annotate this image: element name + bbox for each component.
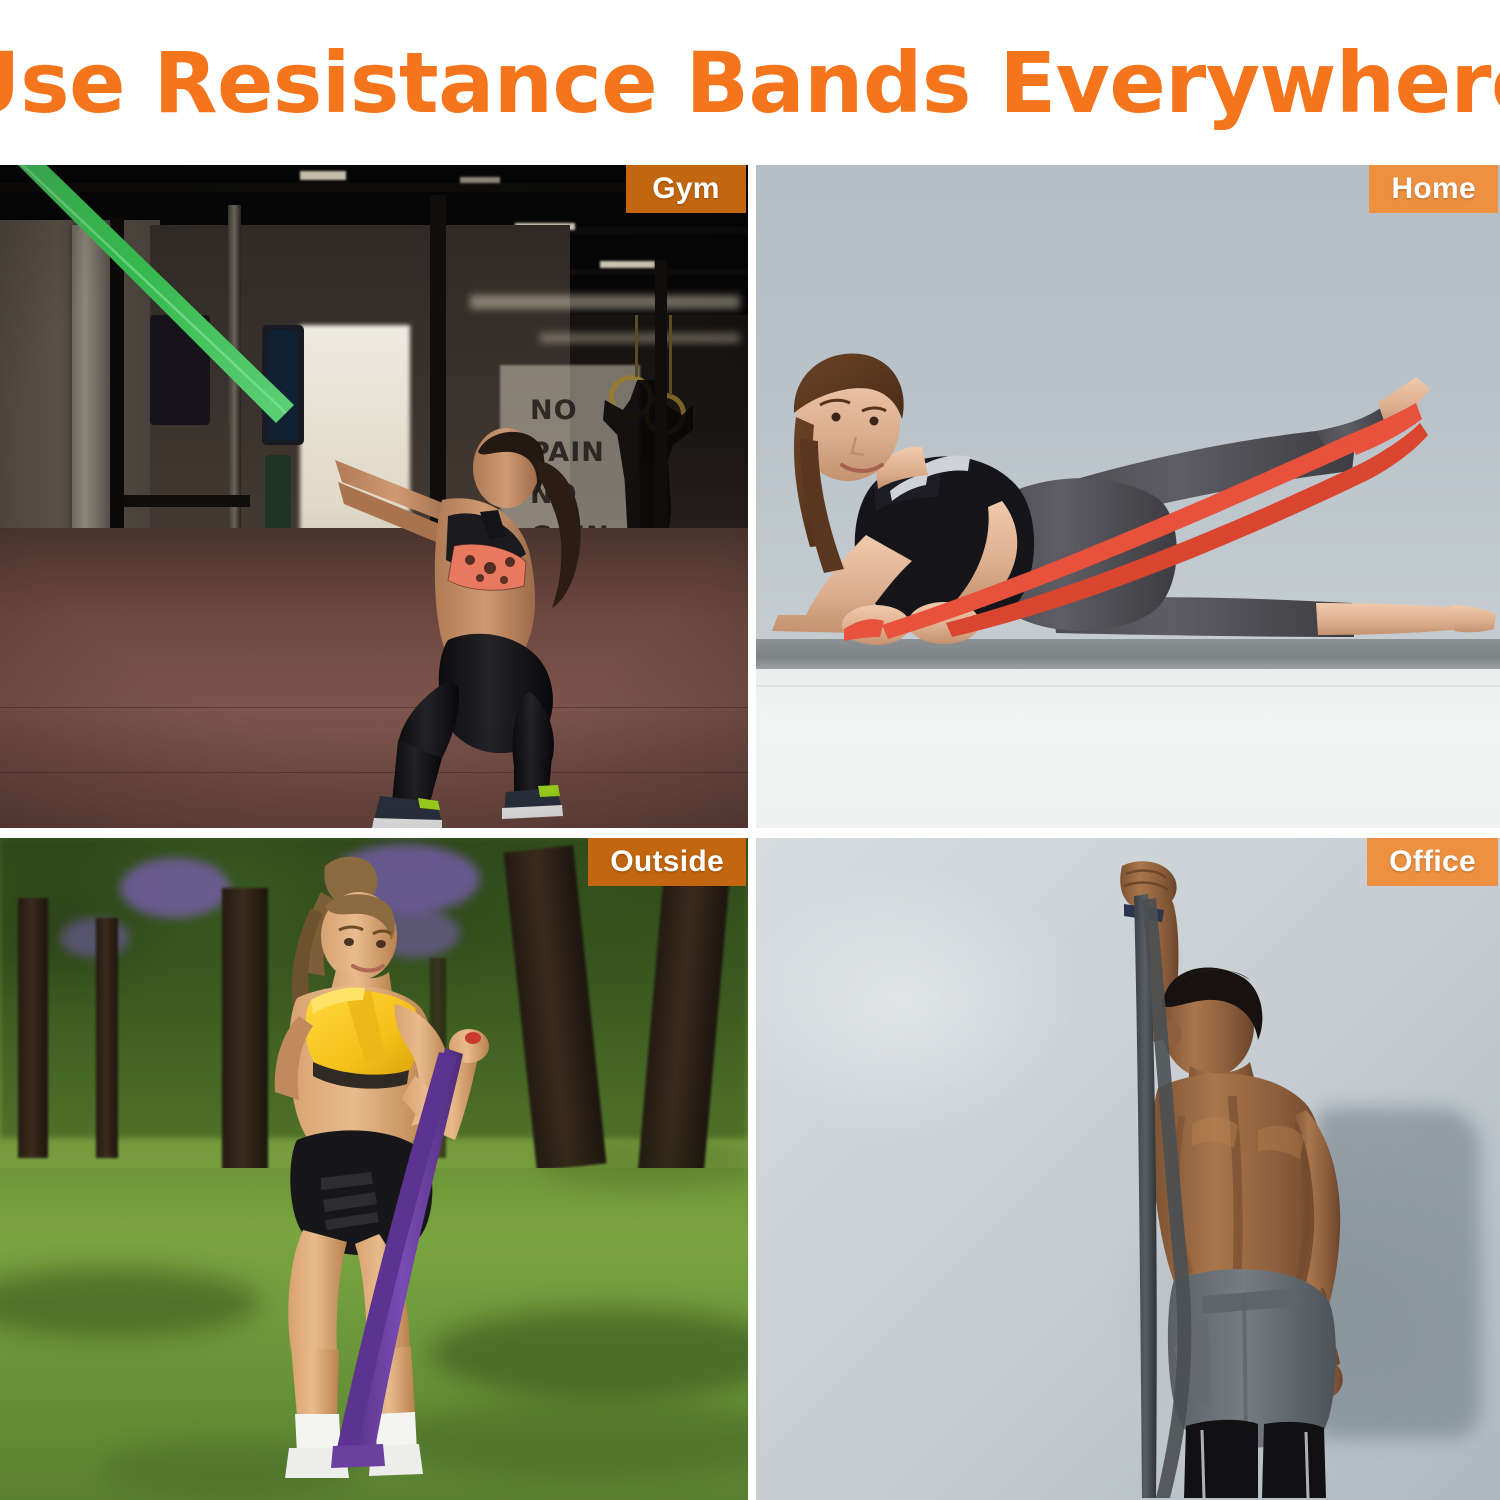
headline-banner: Use Resistance Bands Everywhere (0, 0, 1500, 165)
jacaranda-blossom (60, 918, 130, 958)
promo-image: Use Resistance Bands Everywhere NOPAINNO… (0, 0, 1500, 1500)
photo-grid: NOPAINNOGAIN (0, 165, 1500, 1500)
outside-athlete (225, 848, 525, 1498)
panel-gym: NOPAINNOGAIN (0, 165, 748, 828)
panel-home: Home (756, 165, 1500, 828)
badge-home: Home (1369, 165, 1498, 213)
jacaranda-blossom (120, 858, 230, 918)
grass-shadow (540, 1138, 748, 1188)
badge-office: Office (1367, 838, 1498, 886)
badge-gym: Gym (626, 165, 746, 213)
panel-office: Office (756, 838, 1500, 1500)
tree-trunk (18, 898, 48, 1158)
page-title: Use Resistance Bands Everywhere (0, 41, 1500, 125)
office-athlete (1006, 848, 1406, 1498)
badge-outside: Outside (588, 838, 746, 886)
home-athlete (756, 285, 1500, 715)
panel-outside: Outside (0, 838, 748, 1500)
gym-vignette (0, 165, 748, 828)
tree-trunk (96, 918, 118, 1158)
